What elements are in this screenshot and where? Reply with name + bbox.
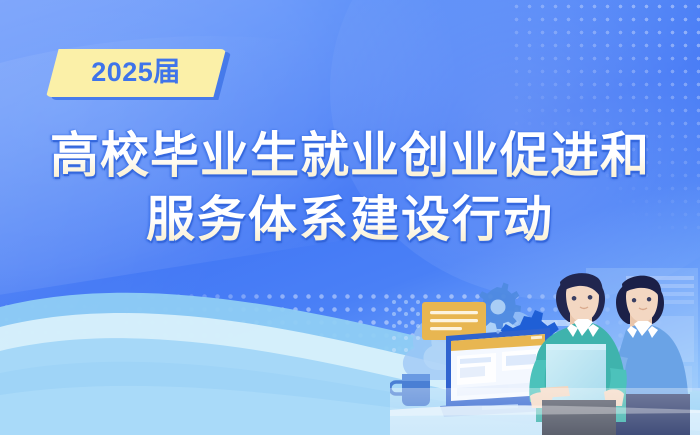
- title-line-1: 高校毕业生就业创业促进和: [0, 124, 700, 188]
- year-badge-label: 2025届: [91, 59, 181, 86]
- title-line-2: 服务体系建设行动: [0, 188, 700, 252]
- banner: 2025届 高校毕业生就业创业促进和 服务体系建设行动: [0, 0, 700, 435]
- year-badge: 2025届: [46, 49, 231, 101]
- career-service-illustration: [390, 260, 700, 435]
- page-title: 高校毕业生就业创业促进和 服务体系建设行动: [0, 124, 700, 252]
- year-badge-face: 2025届: [46, 49, 226, 97]
